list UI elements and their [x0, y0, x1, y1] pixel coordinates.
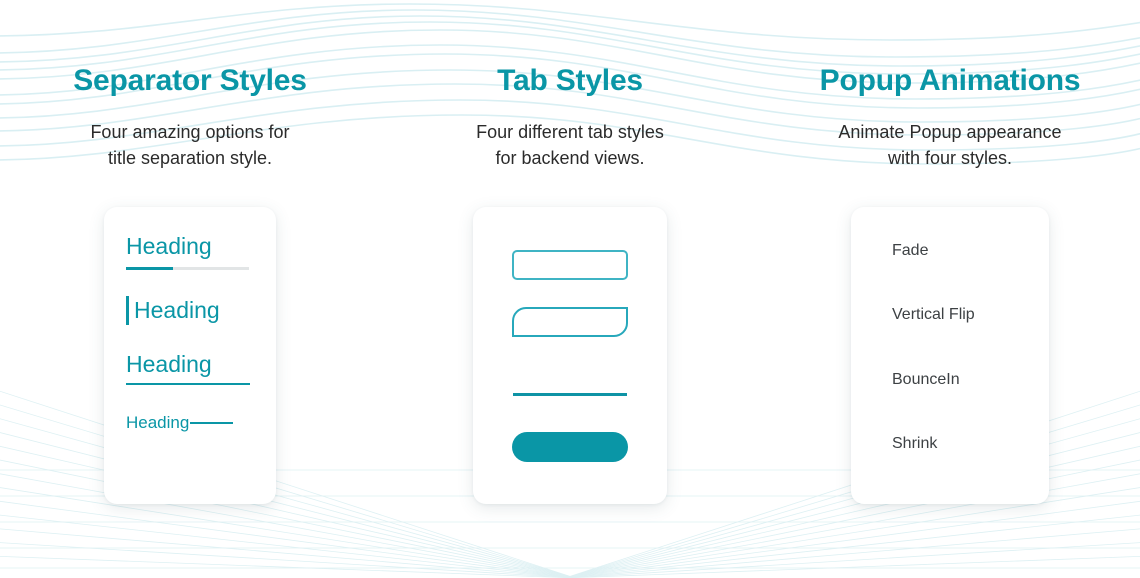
column-title-popup-animations: Popup Animations — [820, 64, 1081, 97]
animation-list-item[interactable]: Shrink — [851, 434, 937, 453]
description-line: for backend views. — [476, 145, 664, 171]
column-title-separator-styles: Separator Styles — [73, 64, 307, 97]
description-line: title separation style. — [90, 145, 289, 171]
separator-rule-trailing — [190, 422, 233, 424]
description-line: Four different tab styles — [476, 119, 664, 145]
column-popup-animations: Popup Animations Animate Popup appearanc… — [760, 64, 1140, 578]
separator-sample-partial-underline[interactable]: Heading — [104, 233, 276, 269]
column-description-popup-animations: Animate Popup appearance with four style… — [838, 119, 1061, 171]
description-line: Animate Popup appearance — [838, 119, 1061, 145]
separator-rule-partial — [126, 267, 249, 270]
separator-vertical-bar — [126, 296, 129, 325]
separator-heading-label: Heading — [126, 233, 276, 259]
animation-list-item[interactable]: Fade — [851, 241, 928, 260]
description-line: with four styles. — [838, 145, 1061, 171]
column-tab-styles: Tab Styles Four different tab styles for… — [380, 64, 760, 578]
column-title-tab-styles: Tab Styles — [497, 64, 643, 97]
separator-rule-full — [126, 383, 250, 385]
separator-heading-label: Heading — [134, 297, 220, 323]
column-description-tab-styles: Four different tab styles for backend vi… — [476, 119, 664, 171]
separator-samples-card: Heading Heading Heading Heading — [104, 207, 276, 504]
animation-list-item[interactable]: BounceIn — [851, 370, 960, 389]
tab-sample-outlined-rounded-rect[interactable] — [512, 250, 628, 280]
separator-sample-left-vertical-bar[interactable]: Heading — [104, 296, 276, 325]
animation-list-item[interactable]: Vertical Flip — [851, 305, 975, 324]
tab-sample-filled-pill[interactable] — [512, 432, 628, 462]
separator-heading-label: Heading — [126, 351, 276, 377]
tab-samples-card — [473, 207, 667, 504]
separator-sample-full-underline[interactable]: Heading — [104, 351, 276, 385]
animation-list-card: Fade Vertical Flip BounceIn Shrink — [851, 207, 1049, 504]
column-description-separator-styles: Four amazing options for title separatio… — [90, 119, 289, 171]
feature-columns: Separator Styles Four amazing options fo… — [0, 0, 1140, 578]
separator-sample-inline-trailing-line[interactable]: Heading — [104, 413, 276, 433]
tab-sample-underline-bar[interactable] — [513, 393, 627, 396]
tab-sample-outlined-diagonal-rounded[interactable] — [512, 307, 628, 337]
description-line: Four amazing options for — [90, 119, 289, 145]
column-separator-styles: Separator Styles Four amazing options fo… — [0, 64, 380, 578]
separator-heading-label: Heading — [126, 413, 189, 433]
